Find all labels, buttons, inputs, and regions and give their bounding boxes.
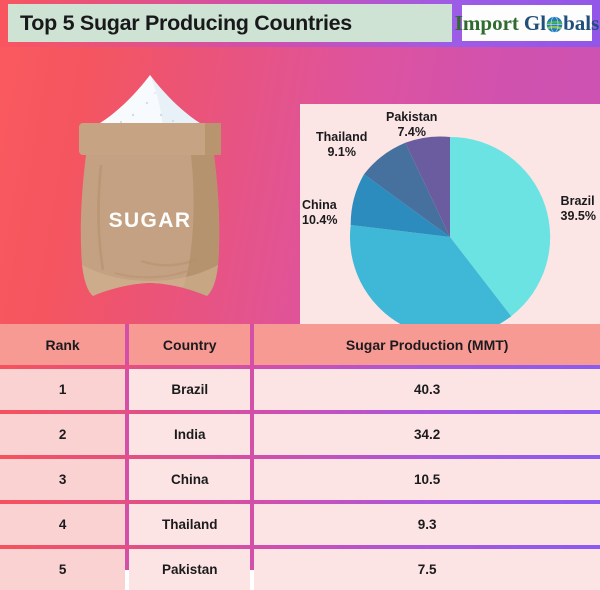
logo-bals-text: bals — [563, 13, 599, 34]
table-header-row: Rank Country Sugar Production (MMT) — [0, 324, 600, 365]
pie-label-brazil-name: Brazil — [561, 194, 596, 209]
pie-label-pakistan-name: Pakistan — [386, 110, 437, 125]
cell-country: Brazil — [129, 369, 250, 410]
cell-rank: 2 — [0, 414, 125, 455]
cell-country: India — [129, 414, 250, 455]
cell-production: 9.3 — [254, 504, 600, 545]
pie-label-china: China 10.4% — [302, 198, 337, 228]
sugar-sack-label: SUGAR — [55, 209, 245, 233]
table-row: 3 China 10.5 — [0, 459, 600, 500]
logo-word-import: Import — [455, 13, 519, 34]
cell-rank: 1 — [0, 369, 125, 410]
cell-rank: 3 — [0, 459, 125, 500]
cell-country: Thailand — [129, 504, 250, 545]
pie-label-china-name: China — [302, 198, 337, 213]
cell-country: China — [129, 459, 250, 500]
pie-label-thailand: Thailand 9.1% — [316, 130, 367, 160]
hero-area: SUGAR Brazil 39.5% Indi — [0, 47, 600, 324]
brand-logo[interactable]: Import Gl bals — [462, 5, 592, 41]
sugar-sack-illustration: SUGAR — [55, 65, 245, 305]
globe-icon — [546, 16, 563, 33]
pie-label-thailand-name: Thailand — [316, 130, 367, 145]
pie-label-brazil-value: 39.5% — [561, 209, 596, 224]
cell-production: 10.5 — [254, 459, 600, 500]
cell-production: 40.3 — [254, 369, 600, 410]
table-row: 2 India 34.2 — [0, 414, 600, 455]
infographic-root: Top 5 Sugar Producing Countries Import G… — [0, 0, 600, 570]
logo-text: Import Gl bals — [455, 13, 600, 34]
title-band: Top 5 Sugar Producing Countries — [8, 4, 452, 42]
header-bar: Top 5 Sugar Producing Countries Import G… — [0, 0, 600, 47]
column-header-country: Country — [129, 324, 250, 365]
pie-label-thailand-value: 9.1% — [316, 145, 367, 160]
table-row: 4 Thailand 9.3 — [0, 504, 600, 545]
pie-label-pakistan: Pakistan 7.4% — [386, 110, 437, 140]
cell-rank: 4 — [0, 504, 125, 545]
column-header-production: Sugar Production (MMT) — [254, 324, 600, 365]
cell-production: 34.2 — [254, 414, 600, 455]
logo-word-globals: Gl bals — [524, 13, 599, 34]
pie-label-brazil: Brazil 39.5% — [561, 194, 596, 224]
column-header-rank: Rank — [0, 324, 125, 365]
pie-label-china-value: 10.4% — [302, 213, 337, 228]
pie-label-pakistan-value: 7.4% — [386, 125, 437, 140]
table-row: 1 Brazil 40.3 — [0, 369, 600, 410]
logo-gl-text: Gl — [524, 13, 546, 34]
production-table: Rank Country Sugar Production (MMT) 1 Br… — [0, 324, 600, 570]
page-title: Top 5 Sugar Producing Countries — [20, 11, 352, 36]
sugar-sack-icon — [55, 65, 245, 305]
